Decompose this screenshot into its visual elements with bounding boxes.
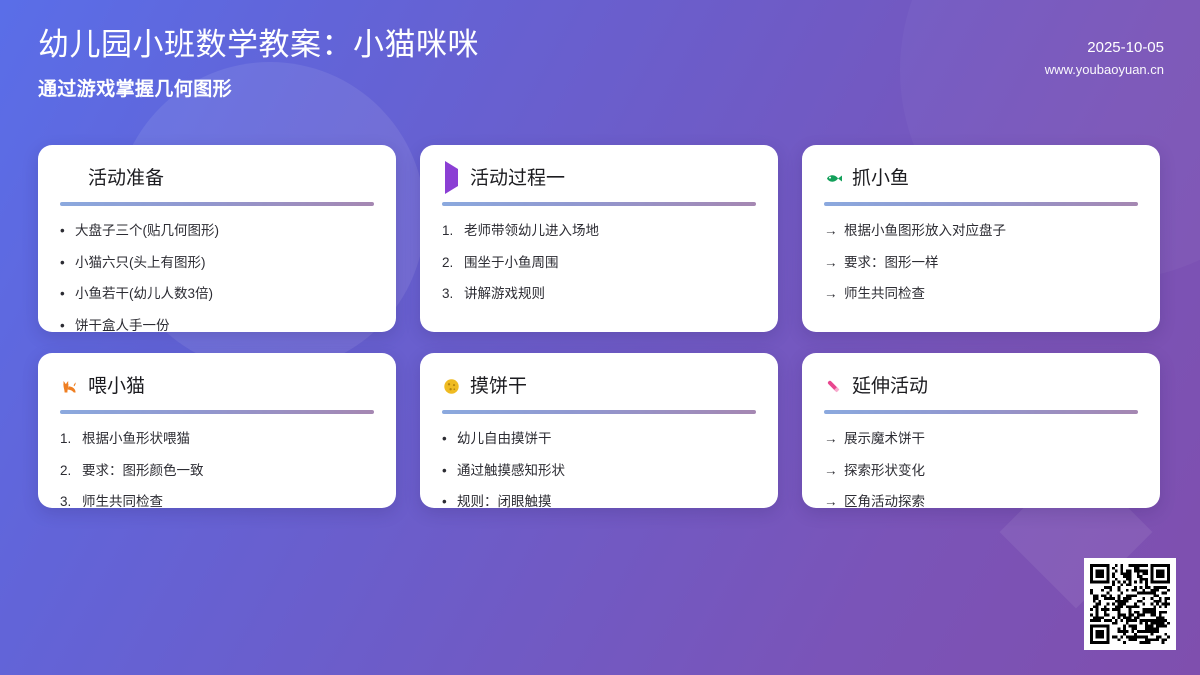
- card-title: 摸饼干: [470, 377, 527, 396]
- list-item-text: 小鱼若干(幼儿人数3倍): [75, 284, 213, 304]
- card-list: →展示魔术饼干→探索形状变化→区角活动探索: [824, 429, 1138, 508]
- list-item-text: 探索形状变化: [844, 461, 925, 481]
- list-item: •规则：闭眼触摸: [442, 492, 756, 508]
- list-marker-number: 2.: [442, 253, 458, 273]
- list-marker-bullet: •: [60, 316, 69, 332]
- list-item: •大盘子三个(贴几何图形): [60, 221, 374, 241]
- card-title: 活动准备: [88, 169, 164, 188]
- slide-header: 幼儿园小班数学教案：小猫咪咪 通过游戏掌握几何图形: [0, 0, 1200, 130]
- card-title: 活动过程一: [470, 169, 565, 188]
- list-marker-arrow: →: [824, 429, 838, 449]
- list-marker-arrow: →: [824, 284, 838, 304]
- slide-root: 幼儿园小班数学教案：小猫咪咪 通过游戏掌握几何图形 2025-10-05 www…: [0, 0, 1200, 675]
- card-list: •大盘子三个(贴几何图形)•小猫六只(头上有图形)•小鱼若干(幼儿人数3倍)•饼…: [60, 221, 374, 332]
- date-label: 2025-10-05: [1045, 36, 1164, 59]
- list-item: •饼干盒人手一份: [60, 316, 374, 332]
- list-item-text: 大盘子三个(贴几何图形): [75, 221, 219, 241]
- list-item: →区角活动探索: [824, 492, 1138, 508]
- list-marker-bullet: •: [60, 221, 69, 241]
- list-item: 2.要求：图形颜色一致: [60, 461, 374, 481]
- card-header: 活动过程一: [442, 165, 756, 191]
- fish-icon: [824, 169, 843, 188]
- list-marker-number: 3.: [442, 284, 458, 304]
- header-meta: 2025-10-05 www.youbaoyuan.cn: [1045, 36, 1164, 81]
- website-label: www.youbaoyuan.cn: [1045, 59, 1164, 81]
- list-item: •小猫六只(头上有图形): [60, 253, 374, 273]
- card-divider: [824, 202, 1138, 206]
- qr-code[interactable]: [1084, 558, 1176, 650]
- list-item: →师生共同检查: [824, 284, 1138, 304]
- list-marker-bullet: •: [442, 461, 451, 481]
- list-marker-number: 3.: [60, 492, 76, 508]
- card-list: →根据小鱼图形放入对应盘子→要求：图形一样→师生共同检查: [824, 221, 1138, 304]
- list-item-text: 师生共同检查: [844, 284, 925, 304]
- list-marker-bullet: •: [442, 492, 451, 508]
- card-divider: [60, 410, 374, 414]
- page-subtitle: 通过游戏掌握几何图形: [38, 74, 1164, 101]
- list-item-text: 要求：图形颜色一致: [82, 461, 204, 481]
- list-item-text: 区角活动探索: [844, 492, 925, 508]
- card-header: 喂小猫: [60, 373, 374, 399]
- card-list: 1.根据小鱼形状喂猫2.要求：图形颜色一致3.师生共同检查: [60, 429, 374, 508]
- card[interactable]: 抓小鱼→根据小鱼图形放入对应盘子→要求：图形一样→师生共同检查: [802, 145, 1160, 332]
- list-item-text: 展示魔术饼干: [844, 429, 925, 449]
- qr-code-image: [1090, 564, 1170, 644]
- card-divider: [442, 202, 756, 206]
- card[interactable]: 喂小猫1.根据小鱼形状喂猫2.要求：图形颜色一致3.师生共同检查: [38, 353, 396, 508]
- list-item: →展示魔术饼干: [824, 429, 1138, 449]
- list-marker-number: 1.: [60, 429, 76, 449]
- list-item: 3.师生共同检查: [60, 492, 374, 508]
- card-list: •幼儿自由摸饼干•通过触摸感知形状•规则：闭眼触摸: [442, 429, 756, 508]
- card-header: 活动准备: [60, 165, 374, 191]
- list-item: 2.围坐于小鱼周围: [442, 253, 756, 273]
- list-item: 1.根据小鱼形状喂猫: [60, 429, 374, 449]
- list-marker-arrow: →: [824, 461, 838, 481]
- card-header: 延伸活动: [824, 373, 1138, 399]
- card-divider: [824, 410, 1138, 414]
- list-item: →要求：图形一样: [824, 253, 1138, 273]
- list-marker-number: 2.: [60, 461, 76, 481]
- list-item: →探索形状变化: [824, 461, 1138, 481]
- card-divider: [60, 202, 374, 206]
- card[interactable]: 延伸活动→展示魔术饼干→探索形状变化→区角活动探索: [802, 353, 1160, 508]
- list-item: 1.老师带领幼儿进入场地: [442, 221, 756, 241]
- list-item-text: 根据小鱼图形放入对应盘子: [844, 221, 1006, 241]
- list-item: •通过触摸感知形状: [442, 461, 756, 481]
- list-marker-arrow: →: [824, 492, 838, 508]
- list-item-text: 幼儿自由摸饼干: [457, 429, 552, 449]
- list-item: •小鱼若干(幼儿人数3倍): [60, 284, 374, 304]
- list-item-text: 规则：闭眼触摸: [457, 492, 552, 508]
- list-item-text: 根据小鱼形状喂猫: [82, 429, 190, 449]
- card-title: 抓小鱼: [852, 169, 909, 188]
- list-item-text: 讲解游戏规则: [464, 284, 545, 304]
- list-item-text: 围坐于小鱼周围: [464, 253, 559, 273]
- card[interactable]: 摸饼干•幼儿自由摸饼干•通过触摸感知形状•规则：闭眼触摸: [420, 353, 778, 508]
- list-marker-bullet: •: [60, 253, 69, 273]
- list-item: →根据小鱼图形放入对应盘子: [824, 221, 1138, 241]
- play-triangle-icon: [442, 169, 461, 188]
- list-item-text: 小猫六只(头上有图形): [75, 253, 206, 273]
- card-title: 延伸活动: [852, 377, 928, 396]
- list-marker-number: 1.: [442, 221, 458, 241]
- list-item: 3.讲解游戏规则: [442, 284, 756, 304]
- page-title: 幼儿园小班数学教案：小猫咪咪: [38, 26, 1164, 65]
- list-marker-bullet: •: [442, 429, 451, 449]
- list-marker-arrow: →: [824, 221, 838, 241]
- cookie-icon: [442, 377, 461, 396]
- card-title: 喂小猫: [88, 377, 145, 396]
- card-header: 摸饼干: [442, 373, 756, 399]
- list-item-text: 要求：图形一样: [844, 253, 939, 273]
- blue-circle-icon: [60, 169, 79, 188]
- list-marker-bullet: •: [60, 284, 69, 304]
- list-item-text: 通过触摸感知形状: [457, 461, 565, 481]
- list-marker-arrow: →: [824, 253, 838, 273]
- card-grid: 活动准备•大盘子三个(贴几何图形)•小猫六只(头上有图形)•小鱼若干(幼儿人数3…: [38, 145, 1164, 508]
- pencil-icon: [824, 377, 843, 396]
- card-divider: [442, 410, 756, 414]
- card[interactable]: 活动过程一1.老师带领幼儿进入场地2.围坐于小鱼周围3.讲解游戏规则: [420, 145, 778, 332]
- list-item-text: 师生共同检查: [82, 492, 163, 508]
- card-list: 1.老师带领幼儿进入场地2.围坐于小鱼周围3.讲解游戏规则: [442, 221, 756, 304]
- list-item: •幼儿自由摸饼干: [442, 429, 756, 449]
- card[interactable]: 活动准备•大盘子三个(贴几何图形)•小猫六只(头上有图形)•小鱼若干(幼儿人数3…: [38, 145, 396, 332]
- list-item-text: 老师带领幼儿进入场地: [464, 221, 599, 241]
- card-header: 抓小鱼: [824, 165, 1138, 191]
- cat-icon: [60, 377, 79, 396]
- list-item-text: 饼干盒人手一份: [75, 316, 170, 332]
